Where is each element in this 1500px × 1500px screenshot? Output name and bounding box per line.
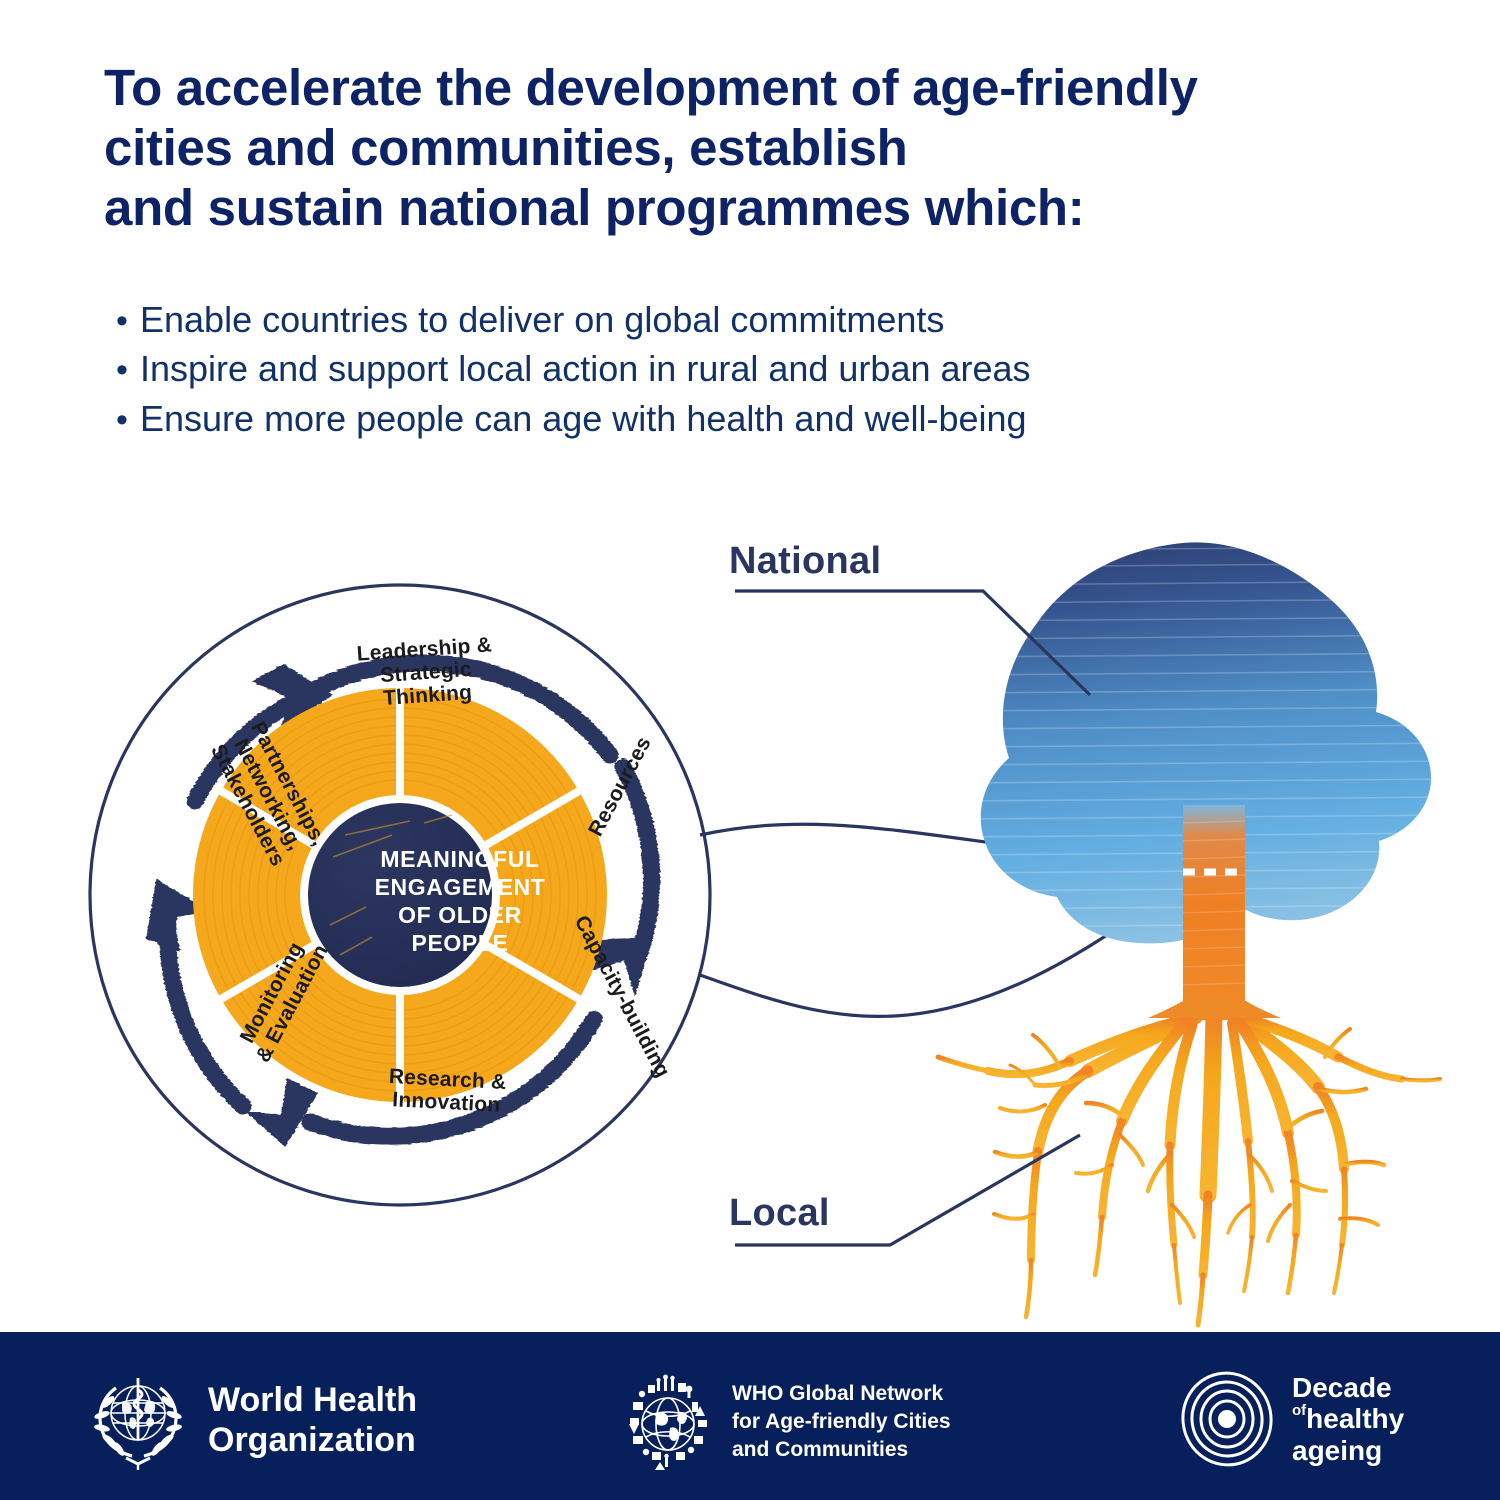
gnafcc-logo-line: for Age-friendly Cities xyxy=(732,1408,951,1436)
page-title-line-3: and sustain national programmes which: xyxy=(104,178,1444,238)
root-collar xyxy=(1148,1001,1281,1018)
footer-bar: World Health Organization xyxy=(0,1332,1500,1500)
hub-label-line: OF OLDER xyxy=(349,901,571,929)
who-logo-line: World Health xyxy=(208,1380,417,1420)
gnafcc-logo-line: WHO Global Network xyxy=(732,1380,951,1408)
bullet-marker-icon: • xyxy=(104,399,140,437)
page-title-line-2: cities and communities, establish xyxy=(104,118,1444,178)
who-logo-line: Organization xyxy=(208,1420,417,1460)
gnafcc-logo-line: and Communities xyxy=(732,1436,951,1464)
segment-label-research[interactable]: Research & Innovation xyxy=(351,1063,543,1119)
page-title: To accelerate the development of age-fri… xyxy=(104,58,1444,239)
decade-rings-icon xyxy=(1178,1370,1276,1468)
bullet-marker-icon: • xyxy=(104,349,140,387)
bullet-text: Ensure more people can age with health a… xyxy=(140,399,1027,439)
hub-label: MEANINGFUL ENGAGEMENT OF OLDER PEOPLE xyxy=(349,845,571,957)
bullet-list: • Enable countries to deliver on global … xyxy=(104,300,1404,448)
tree-illustration xyxy=(938,525,1460,1325)
bullet-text: Inspire and support local action in rura… xyxy=(140,349,1031,389)
page-title-line-1: To accelerate the development of age-fri… xyxy=(104,58,1444,118)
global-network-globe-icon xyxy=(620,1374,716,1470)
list-item: • Ensure more people can age with health… xyxy=(104,399,1404,439)
who-emblem-icon xyxy=(86,1368,190,1472)
decade-logo-of: of xyxy=(1292,1402,1306,1419)
who-logo: World Health Organization xyxy=(86,1368,417,1472)
who-logo-text: World Health Organization xyxy=(208,1380,417,1460)
decade-logo-line: Decade xyxy=(1292,1372,1404,1403)
hub-label-line: PEOPLE xyxy=(349,929,571,957)
bullet-text: Enable countries to deliver on global co… xyxy=(140,300,944,340)
decade-logo: Decade ofhealthy ageing xyxy=(1178,1370,1404,1468)
hub-label-line: ENGAGEMENT xyxy=(349,873,571,901)
decade-logo-text: Decade ofhealthy ageing xyxy=(1292,1372,1404,1466)
bullet-marker-icon: • xyxy=(104,300,140,338)
decade-logo-line: ageing xyxy=(1292,1435,1404,1466)
callout-label-local: Local xyxy=(729,1192,830,1235)
gnafcc-logo-text: WHO Global Network for Age-friendly Citi… xyxy=(732,1380,951,1463)
list-item: • Inspire and support local action in ru… xyxy=(104,349,1404,389)
callout-label-national: National xyxy=(729,540,881,583)
decade-logo-line-2: ofhealthy xyxy=(1292,1403,1404,1434)
list-item: • Enable countries to deliver on global … xyxy=(104,300,1404,340)
gnafcc-logo: WHO Global Network for Age-friendly Citi… xyxy=(620,1374,951,1470)
decade-logo-healthy: healthy xyxy=(1306,1403,1404,1434)
hub-label-line: MEANINGFUL xyxy=(349,845,571,873)
tree-roots xyxy=(938,1015,1440,1325)
